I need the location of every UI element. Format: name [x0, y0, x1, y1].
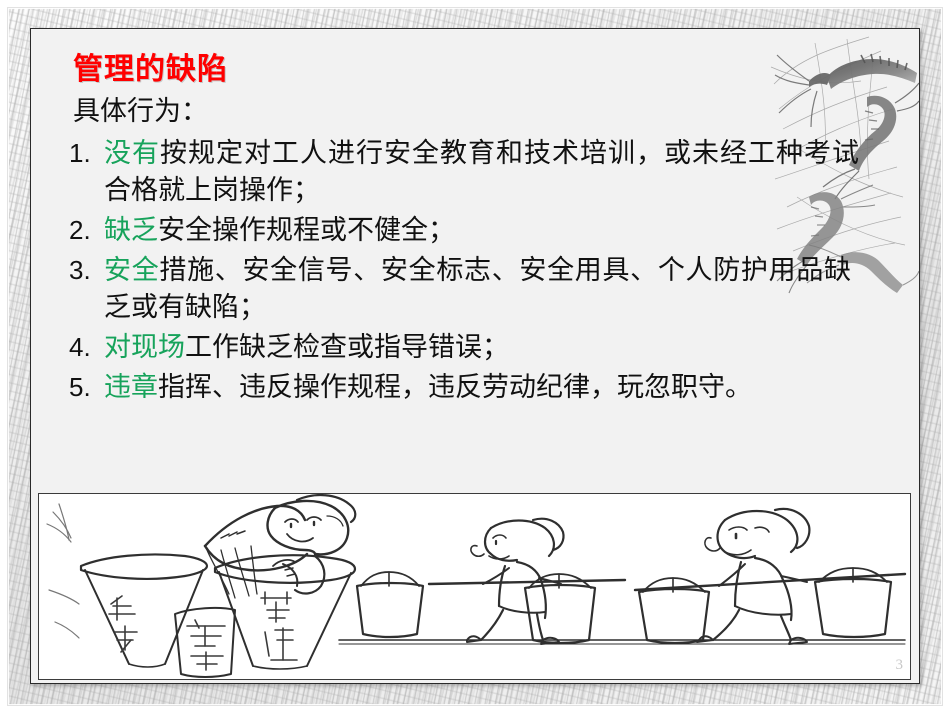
- list-item-number: 3.: [69, 252, 101, 289]
- list-item-number: 4.: [69, 329, 101, 366]
- list-item: 1.没有按规定对工人进行安全教育和技术培训，或未经工种考试合格就上岗操作；: [69, 135, 859, 209]
- list-item: 5.违章指挥、违反操作规程，违反劳动纪律，玩忽职守。: [69, 369, 851, 406]
- safety-production-management-cartoon-image: [38, 493, 911, 680]
- slide: 管理的缺陷 具体行为： 1.没有按规定对工人进行安全教育和技术培训，或未经工种考…: [0, 0, 950, 713]
- list-item-highlight: 安全: [104, 255, 159, 285]
- list-item-highlight: 缺乏: [104, 215, 158, 245]
- subtitle: 具体行为：: [73, 89, 208, 128]
- page-title: 管理的缺陷: [73, 44, 228, 88]
- list-item-text: 安全操作规程或不健全；: [158, 215, 455, 245]
- list-item-highlight: 违章: [104, 372, 158, 402]
- list-item-text: 指挥、违反操作规程，违反劳动纪律，玩忽职守。: [158, 372, 752, 402]
- list-item-number: 5.: [69, 369, 101, 406]
- list-item: 4.对现场工作缺乏检查或指导错误；: [69, 329, 859, 366]
- list-item-highlight: 对现场: [104, 332, 185, 362]
- slide-content-panel: 管理的缺陷 具体行为： 1.没有按规定对工人进行安全教育和技术培训，或未经工种考…: [30, 28, 920, 684]
- list-item-highlight: 没有: [104, 138, 160, 168]
- slide-content: 管理的缺陷 具体行为： 1.没有按规定对工人进行安全教育和技术培训，或未经工种考…: [31, 29, 919, 683]
- list-item: 2.缺乏安全操作规程或不健全；: [69, 212, 859, 249]
- list-item-text: 措施、安全信号、安全标志、安全用具、个人防护用品缺乏或有缺陷；: [104, 255, 851, 322]
- behaviour-list: 1.没有按规定对工人进行安全教育和技术培训，或未经工种考试合格就上岗操作； 2.…: [69, 135, 881, 409]
- list-item: 3.安全措施、安全信号、安全标志、安全用具、个人防护用品缺乏或有缺陷；: [69, 252, 851, 326]
- list-item-number: 2.: [69, 212, 101, 249]
- list-item-text: 工作缺乏检查或指导错误；: [185, 332, 509, 362]
- page-number: 3: [896, 657, 904, 674]
- list-item-text: 按规定对工人进行安全教育和技术培训，或未经工种考试合格就上岗操作；: [104, 138, 859, 205]
- list-item-number: 1.: [69, 135, 101, 172]
